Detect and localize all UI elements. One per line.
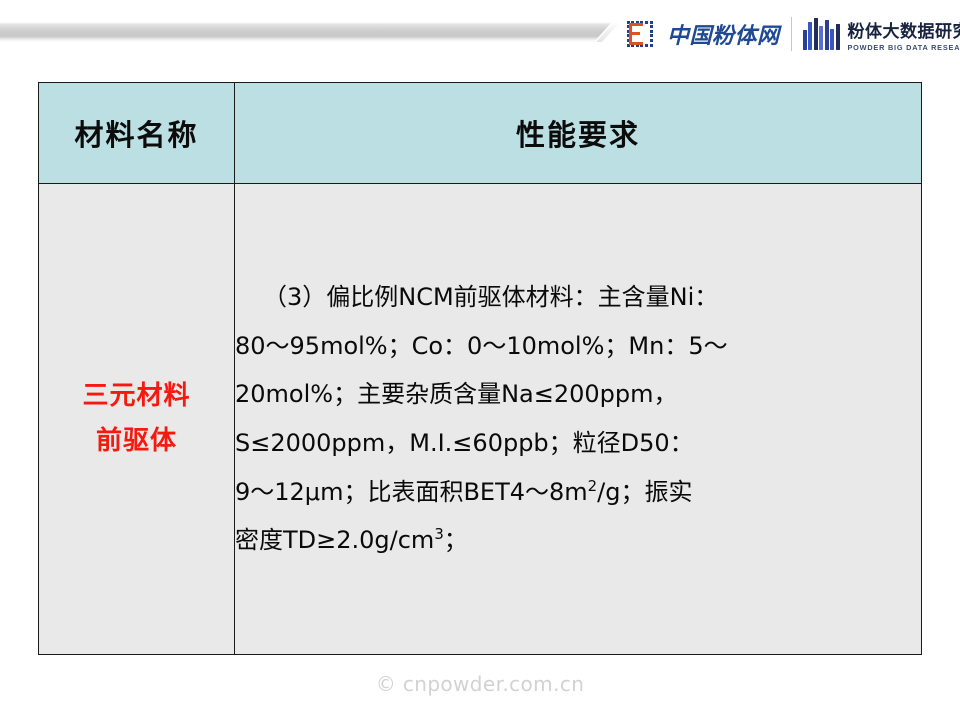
material-name-line-1: 前驱体 — [39, 419, 234, 465]
spec-line-2: 20mol%；主要杂质含量Na≤200ppm， — [235, 370, 921, 419]
column-header-material-name: 材料名称 — [39, 83, 235, 184]
bar-chart-mark-icon — [803, 18, 841, 50]
spec-line-3: S≤2000ppm，M.I.≤60ppb；粒径D50： — [235, 419, 921, 468]
specification-table: 材料名称 性能要求 三元材料前驱体 （3）偏比例NCM前驱体材料：主含量Ni：8… — [38, 82, 922, 655]
spec-line-5: 密度TD≥2.0g/cm3； — [235, 516, 921, 565]
spec-line-1: 80～95mol%；Co：0～10mol%；Mn：5～ — [235, 322, 921, 371]
logo-divider — [791, 17, 792, 51]
spec-line-0: （3）偏比例NCM前驱体材料：主含量Ni： — [235, 273, 921, 322]
powder-big-data-en: POWDER BIG DATA RESEARCH — [848, 43, 960, 52]
footer-watermark: © cnpowder.com.cn — [0, 672, 960, 696]
cell-material-name: 三元材料前驱体 — [39, 184, 235, 655]
powder-big-data-logo[interactable]: 粉体大数据研究 POWDER BIG DATA RESEARCH — [803, 17, 960, 52]
material-name-line-0: 三元材料 — [39, 374, 234, 420]
page-header: 中国粉体网 粉体大数据研究 POWDER BIG DATA RESEARCH — [0, 0, 960, 68]
cell-performance-requirement: （3）偏比例NCM前驱体材料：主含量Ni：80～95mol%；Co：0～10mo… — [235, 184, 922, 655]
spec-line-4: 9～12μm；比表面积BET4～8m2/g；振实 — [235, 468, 921, 517]
powder-big-data-text: 粉体大数据研究 POWDER BIG DATA RESEARCH — [848, 17, 960, 52]
cnpowder-logo-text: 中国粉体网 — [667, 18, 780, 50]
table-header-row: 材料名称 性能要求 — [39, 83, 922, 184]
cnpowder-logo[interactable]: 中国粉体网 — [620, 14, 780, 54]
header-decorative-bar — [0, 22, 612, 42]
logo-group: 中国粉体网 粉体大数据研究 POWDER BIG DATA RESEARCH — [620, 8, 960, 60]
superscript: 2 — [588, 477, 597, 495]
ef-pixel-mark-icon — [620, 14, 660, 54]
powder-big-data-cn: 粉体大数据研究 — [848, 17, 960, 42]
table-row: 三元材料前驱体 （3）偏比例NCM前驱体材料：主含量Ni：80～95mol%；C… — [39, 184, 922, 655]
superscript: 3 — [434, 525, 443, 543]
column-header-performance-requirement: 性能要求 — [235, 83, 922, 184]
